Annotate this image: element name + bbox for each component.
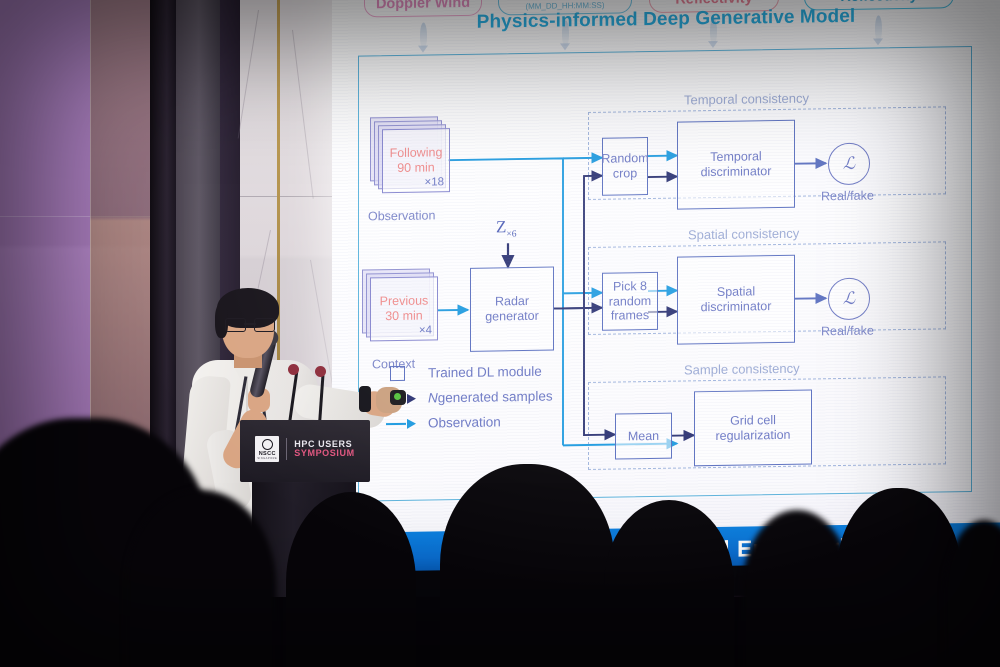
temporal-disc-line1: Temporal [710,149,761,165]
observation-caption: Observation [368,208,435,223]
pick-random-frames-block: Pick 8 random frames [602,272,658,331]
podium-mic-head-left [288,364,299,375]
speaker-wristwatch [359,386,371,412]
generator-line2: generator [485,309,539,325]
mean-block: Mean [615,413,672,460]
photo-scene: Doppler Wind Regime (MM_DD_HH:MM:SS) Ref… [0,0,1000,667]
nscc-logo-ring [262,439,273,450]
pick-frames-line1: Pick 8 [613,279,647,294]
legend-row-generated: N generated samples [384,384,553,412]
observation-frame-stack: Following 90 min ×18 [370,116,452,201]
projected-slide: Doppler Wind Regime (MM_DD_HH:MM:SS) Ref… [332,0,1000,542]
temporal-disc-line2: discriminator [701,164,772,180]
legend-label-module: Trained DL module [428,364,542,381]
legend-row-module: Trained DL module [384,359,553,387]
wall-panel-left-warm [90,0,152,470]
random-crop-line1: Random [601,151,648,166]
gridcell-line1: Grid cell [730,413,776,428]
spatial-loss-caption: Real/fake [821,323,874,338]
random-crop-line2: crop [613,166,637,181]
random-crop-block: Random crop [602,137,648,196]
spatial-disc-line1: Spatial [717,285,755,300]
generator-line1: Radar [495,294,529,309]
marble-seam [240,196,332,197]
nscc-logo-subtext: SINGAPORE [257,457,277,460]
radar-generator-block: Radar generator [470,267,554,352]
noise-count: ×6 [506,229,516,239]
diagram-legend: Trained DL module N generated samples Ob… [384,359,553,437]
wall-seam [90,0,91,470]
gridcell-line2: regularization [715,427,790,443]
presenter-remote [390,390,406,405]
podium-mic-head-right [315,366,326,377]
noise-vector-label: Z×6 [496,217,517,240]
nscc-logo: NSCC SINGAPORE [255,436,279,462]
mean-label: Mean [628,428,659,443]
audience-silhouette [440,464,615,667]
pick-frames-line2: random [609,294,651,309]
grid-cell-regularization-block: Grid cell regularization [694,389,812,466]
podium-title-line2: SYMPOSIUM [294,449,354,458]
spatial-discriminator-block: Spatial discriminator [677,255,795,345]
podium-divider [286,438,287,460]
observation-line1: Following [390,146,443,162]
legend-row-observation: Observation [384,409,553,437]
audience-silhouette [286,492,416,667]
pick-frames-line3: frames [611,308,649,323]
observation-count: ×18 [424,176,444,188]
temporal-loss-caption: Real/fake [821,188,874,203]
context-count: ×4 [419,324,432,336]
legend-label-generated: generated samples [438,389,553,406]
observation-line2: 90 min [397,160,435,175]
audience-silhouette [126,490,276,667]
temporal-discriminator-block: Temporal discriminator [677,120,795,210]
spatial-disc-line2: discriminator [701,299,772,315]
audience-silhouette [604,500,734,667]
eyeglasses [225,318,275,330]
legend-label-observation: Observation [428,414,501,430]
podium-front-panel: NSCC SINGAPORE HPC USERS SYMPOSIUM [240,420,370,482]
noise-symbol: Z [496,217,506,236]
legend-label-generated-italic: N [428,390,438,405]
